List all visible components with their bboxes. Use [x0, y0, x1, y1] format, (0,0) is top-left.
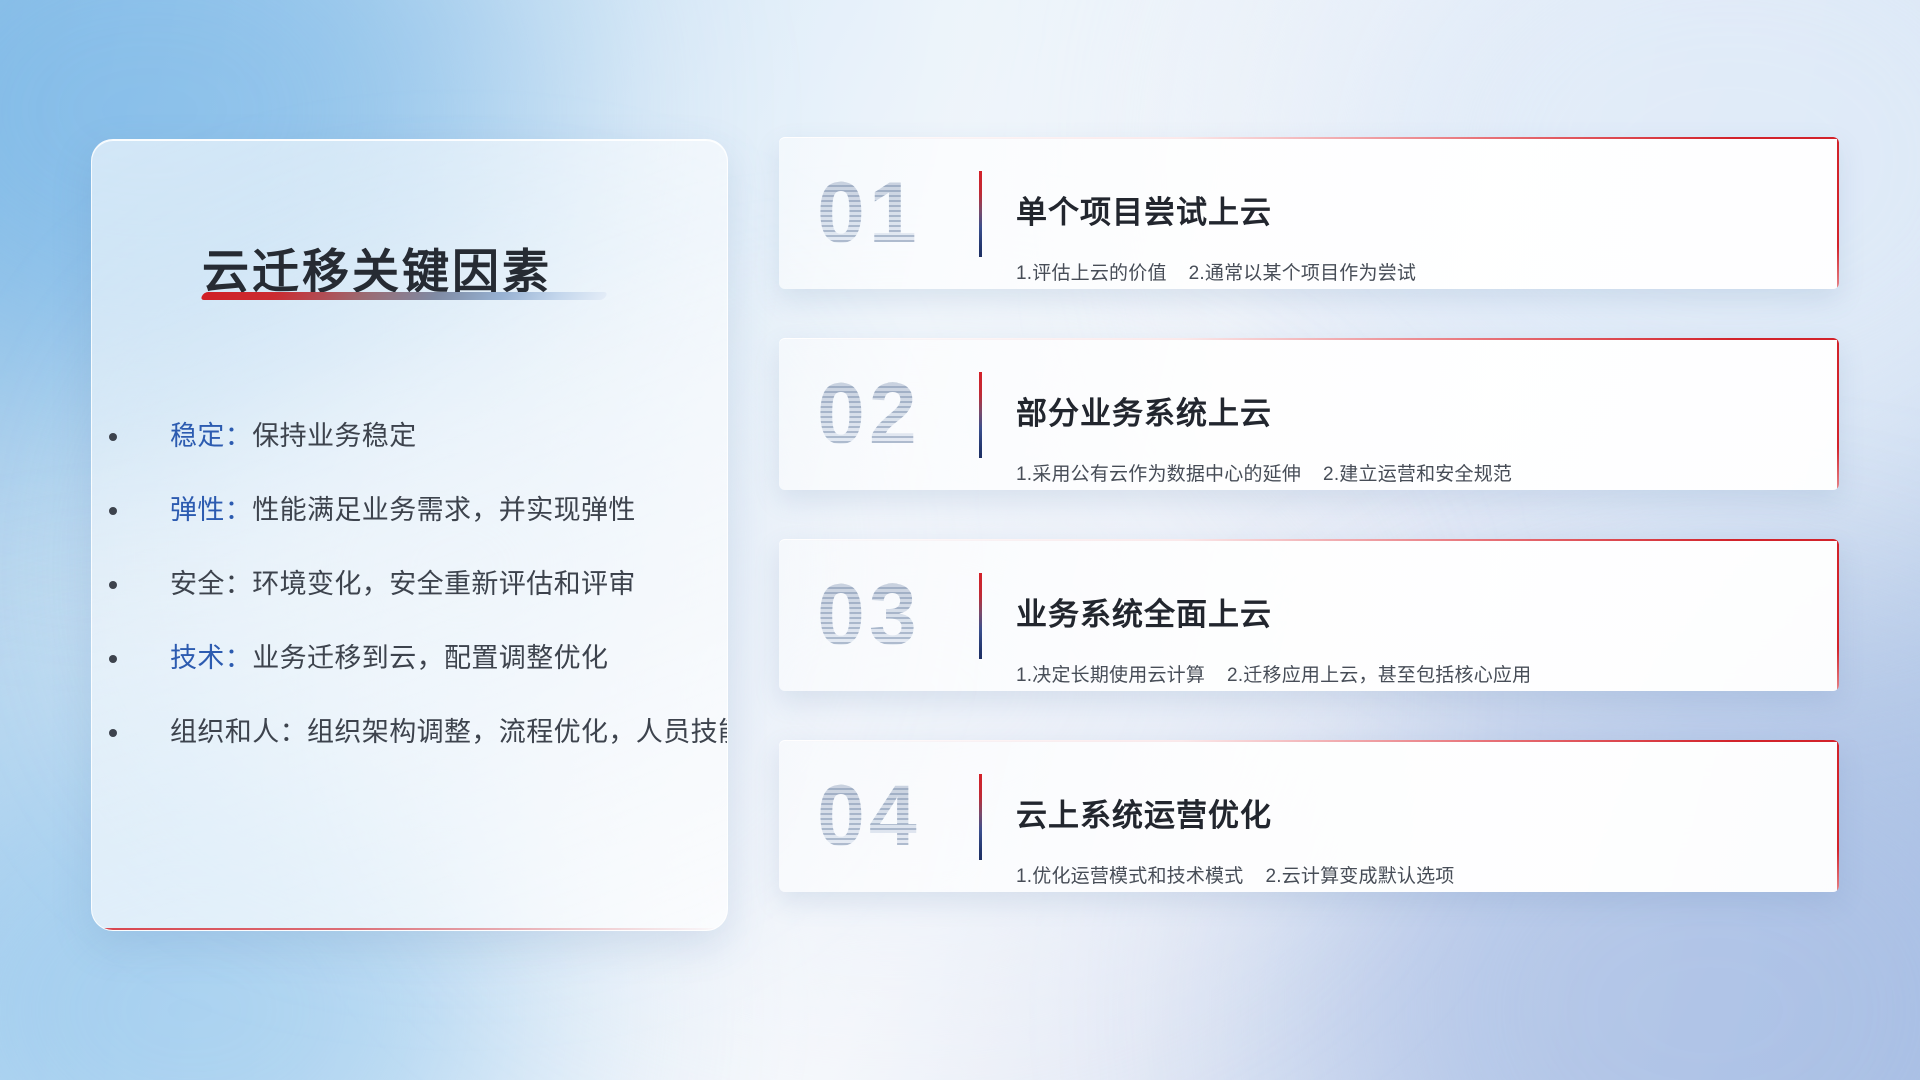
stage-card-body: 单个项目尝试上云1.评估上云的价值2.通常以某个项目作为尝试	[1016, 168, 1813, 289]
key-factor-value: 保持业务稳定	[252, 421, 416, 451]
key-factor-item: 弹性：性能满足业务需求，并实现弹性	[132, 473, 728, 547]
stage-description-part-2: 2.云计算变成默认选项	[1265, 866, 1454, 887]
stage-card[interactable]: 03业务系统全面上云1.决定长期使用云计算2.迁移应用上云，甚至包括核心应用	[779, 539, 1839, 691]
stage-accent-bar	[979, 573, 982, 659]
key-factor-label: 组织和人：	[170, 717, 307, 747]
key-factor-label: 弹性：	[170, 495, 252, 525]
stage-card[interactable]: 04云上系统运营优化1.优化运营模式和技术模式2.云计算变成默认选项	[779, 740, 1839, 892]
stage-cards-list: 01单个项目尝试上云1.评估上云的价值2.通常以某个项目作为尝试02部分业务系统…	[779, 137, 1839, 941]
stage-description-part-1: 1.采用公有云作为数据中心的延伸	[1016, 464, 1301, 485]
title-underline-accent	[200, 292, 608, 300]
stage-card-body: 业务系统全面上云1.决定长期使用云计算2.迁移应用上云，甚至包括核心应用	[1016, 570, 1813, 691]
key-factors-list: 稳定：保持业务稳定弹性：性能满足业务需求，并实现弹性安全：环境变化，安全重新评估…	[92, 399, 728, 769]
key-factor-label: 技术：	[170, 643, 252, 673]
stage-title: 部分业务系统上云	[1016, 395, 1813, 434]
stage-card[interactable]: 02部分业务系统上云1.采用公有云作为数据中心的延伸2.建立运营和安全规范	[779, 338, 1839, 490]
key-factor-label: 安全：	[170, 569, 252, 599]
key-factor-label: 稳定：	[170, 421, 252, 451]
stage-title: 单个项目尝试上云	[1016, 194, 1813, 233]
stage-title: 云上系统运营优化	[1016, 797, 1813, 836]
stage-description-part-2: 2.通常以某个项目作为尝试	[1189, 263, 1416, 284]
stage-description-part-2: 2.迁移应用上云，甚至包括核心应用	[1227, 665, 1531, 686]
stage-number: 04	[817, 773, 921, 859]
key-factors-panel: 云迁移关键因素 稳定：保持业务稳定弹性：性能满足业务需求，并实现弹性安全：环境变…	[91, 139, 728, 931]
stage-title: 业务系统全面上云	[1016, 596, 1813, 635]
stage-number: 02	[817, 371, 921, 457]
stage-number: 01	[817, 170, 921, 256]
stage-description: 1.决定长期使用云计算2.迁移应用上云，甚至包括核心应用	[1016, 660, 1813, 687]
stage-description: 1.优化运营模式和技术模式2.云计算变成默认选项	[1016, 861, 1813, 888]
stage-description-part-1: 1.优化运营模式和技术模式	[1016, 866, 1243, 887]
key-factor-value: 组织架构调整，流程优化，人员技能培训	[307, 717, 728, 747]
key-factor-item: 组织和人：组织架构调整，流程优化，人员技能培训	[132, 695, 728, 769]
stage-card-body: 云上系统运营优化1.优化运营模式和技术模式2.云计算变成默认选项	[1016, 771, 1813, 892]
stage-accent-bar	[979, 171, 982, 257]
stage-card-body: 部分业务系统上云1.采用公有云作为数据中心的延伸2.建立运营和安全规范	[1016, 369, 1813, 490]
stage-description: 1.评估上云的价值2.通常以某个项目作为尝试	[1016, 258, 1813, 285]
key-factor-item: 技术：业务迁移到云，配置调整优化	[132, 621, 728, 695]
stage-description-part-2: 2.建立运营和安全规范	[1323, 464, 1512, 485]
key-factor-item: 稳定：保持业务稳定	[132, 399, 728, 473]
stage-description-part-1: 1.决定长期使用云计算	[1016, 665, 1205, 686]
key-factor-value: 性能满足业务需求，并实现弹性	[252, 495, 636, 525]
stage-description: 1.采用公有云作为数据中心的延伸2.建立运营和安全规范	[1016, 459, 1813, 486]
stage-accent-bar	[979, 774, 982, 860]
stage-number: 03	[817, 572, 921, 658]
stage-description-part-1: 1.评估上云的价值	[1016, 263, 1167, 284]
key-factor-value: 环境变化，安全重新评估和评审	[252, 569, 636, 599]
stage-card[interactable]: 01单个项目尝试上云1.评估上云的价值2.通常以某个项目作为尝试	[779, 137, 1839, 289]
key-factor-value: 业务迁移到云，配置调整优化	[252, 643, 608, 673]
stage-accent-bar	[979, 372, 982, 458]
slide-stage: 云迁移关键因素 稳定：保持业务稳定弹性：性能满足业务需求，并实现弹性安全：环境变…	[0, 0, 1920, 1080]
key-factor-item: 安全：环境变化，安全重新评估和评审	[132, 547, 728, 621]
